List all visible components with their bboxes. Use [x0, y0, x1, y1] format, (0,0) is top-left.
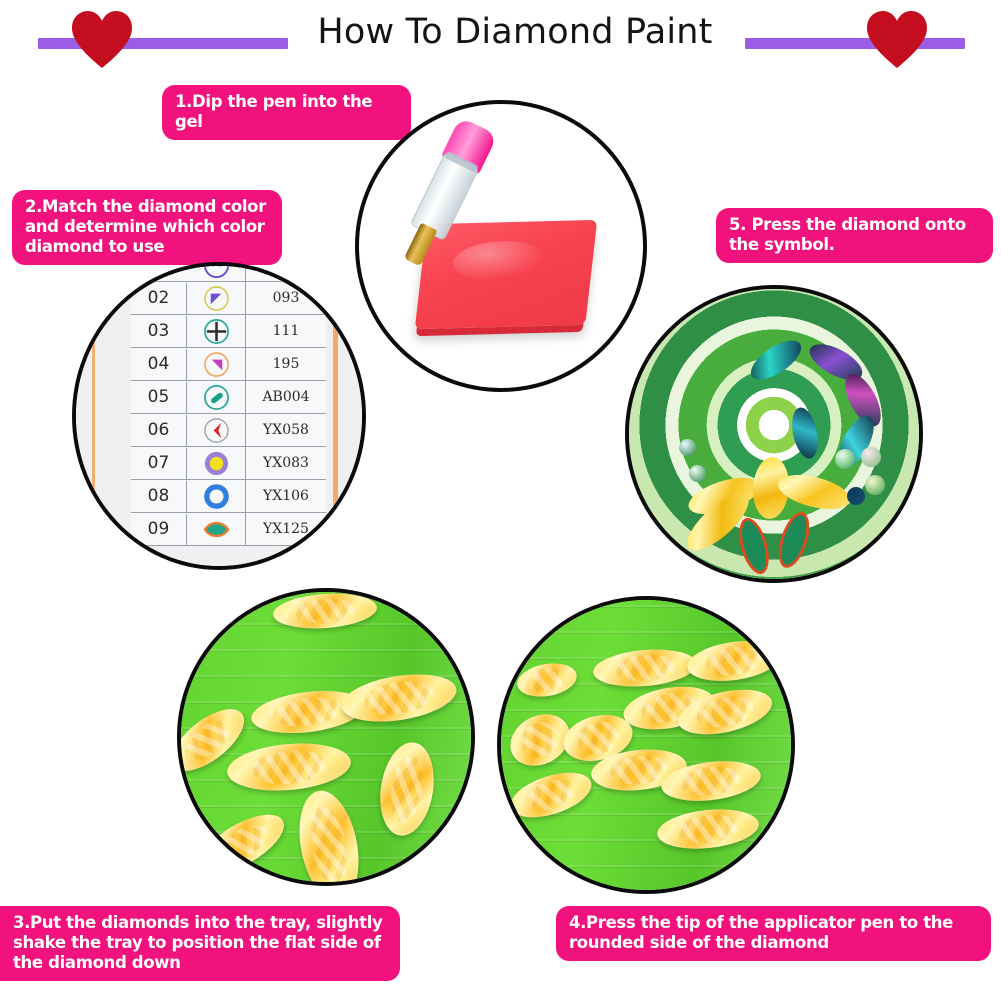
color-chart-legend-photo: 028 02093031110419505AB00406YX05807YX083…	[76, 266, 362, 566]
row-symbol	[187, 262, 246, 281]
table-row: 06YX058	[131, 414, 326, 447]
heart-icon	[70, 10, 134, 70]
plus-symbol	[203, 318, 230, 345]
step-2-photo-circle: 028 02093031110419505AB00406YX05807YX083…	[72, 262, 366, 570]
pen-picking-up-diamond-photo	[501, 600, 791, 890]
row-number: 05	[131, 382, 187, 413]
table-row: 028	[131, 262, 326, 282]
slash-oval-symbol	[203, 384, 230, 411]
step-1-photo-circle	[355, 100, 647, 392]
left-arrow-symbol	[203, 417, 230, 444]
diamonds-in-tray-photo	[181, 592, 471, 882]
heart-icon	[865, 10, 929, 70]
pressing-diamond-onto-canvas-photo	[629, 289, 919, 579]
gem-round	[865, 475, 885, 495]
row-code: YX106	[246, 488, 326, 504]
ring-symbol	[203, 483, 230, 510]
step-3-label: 3.Put the diamonds into the tray, slight…	[0, 906, 400, 981]
table-row: 03111	[131, 315, 326, 348]
row-number: 07	[131, 448, 187, 479]
step-4-photo-circle	[497, 596, 795, 894]
row-code: 195	[246, 356, 326, 372]
table-row: 08YX106	[131, 480, 326, 513]
pen-tip	[497, 618, 507, 655]
header-rule-right	[745, 38, 965, 49]
pen-dipping-into-gel-photo	[359, 104, 643, 388]
page-title: How To Diamond Paint	[295, 12, 735, 52]
row-number: 03	[131, 316, 187, 347]
row-code: YX058	[246, 422, 326, 438]
row-symbol	[187, 447, 246, 479]
step-5-photo-circle	[625, 285, 923, 583]
row-symbol	[187, 348, 246, 380]
table-row: 07YX083	[131, 447, 326, 480]
row-symbol	[187, 315, 246, 347]
table-row: 02093	[131, 282, 326, 315]
step-5-label: 5. Press the diamond onto the symbol.	[716, 208, 993, 263]
row-number: 08	[131, 481, 187, 512]
gem-round	[835, 449, 855, 469]
row-code: 093	[246, 290, 326, 306]
row-symbol	[187, 480, 246, 512]
quarter-pie-symbol	[203, 351, 230, 378]
row-number: 04	[131, 349, 187, 380]
row-code: YX083	[246, 455, 326, 471]
step-3-photo-circle	[177, 588, 475, 886]
gem-round	[861, 447, 881, 467]
gem-round	[689, 465, 706, 482]
row-code: 111	[246, 323, 326, 339]
row-code: YX125	[246, 521, 326, 537]
row-number: 02	[131, 283, 187, 314]
row-symbol	[187, 414, 246, 446]
table-row: 05AB004	[131, 381, 326, 414]
poster-canvas: How To Diamond Paint 1.Dip the pen into …	[0, 0, 1001, 1001]
row-number: 09	[131, 514, 187, 545]
row-symbol	[187, 513, 246, 545]
row-symbol	[187, 381, 246, 413]
gem-round	[847, 487, 865, 505]
printed-canvas	[625, 285, 923, 583]
row-symbol	[187, 282, 246, 314]
step-4-label: 4.Press the tip of the applicator pen to…	[556, 906, 991, 961]
color-chart-table: 028 02093031110419505AB00406YX05807YX083…	[131, 262, 326, 546]
row-code: AB004	[246, 389, 326, 405]
leaf-symbol	[203, 516, 230, 543]
pen-tip	[404, 223, 438, 267]
row-number: 06	[131, 415, 187, 446]
table-row: 04195	[131, 348, 326, 381]
gem-round	[679, 439, 696, 456]
step-2-label: 2.Match the diamond color and determine …	[12, 190, 282, 265]
table-row: 09YX125	[131, 513, 326, 546]
triangle-symbol	[203, 285, 230, 312]
eyes-symbol	[203, 262, 230, 279]
filled-circle-symbol	[203, 450, 230, 477]
